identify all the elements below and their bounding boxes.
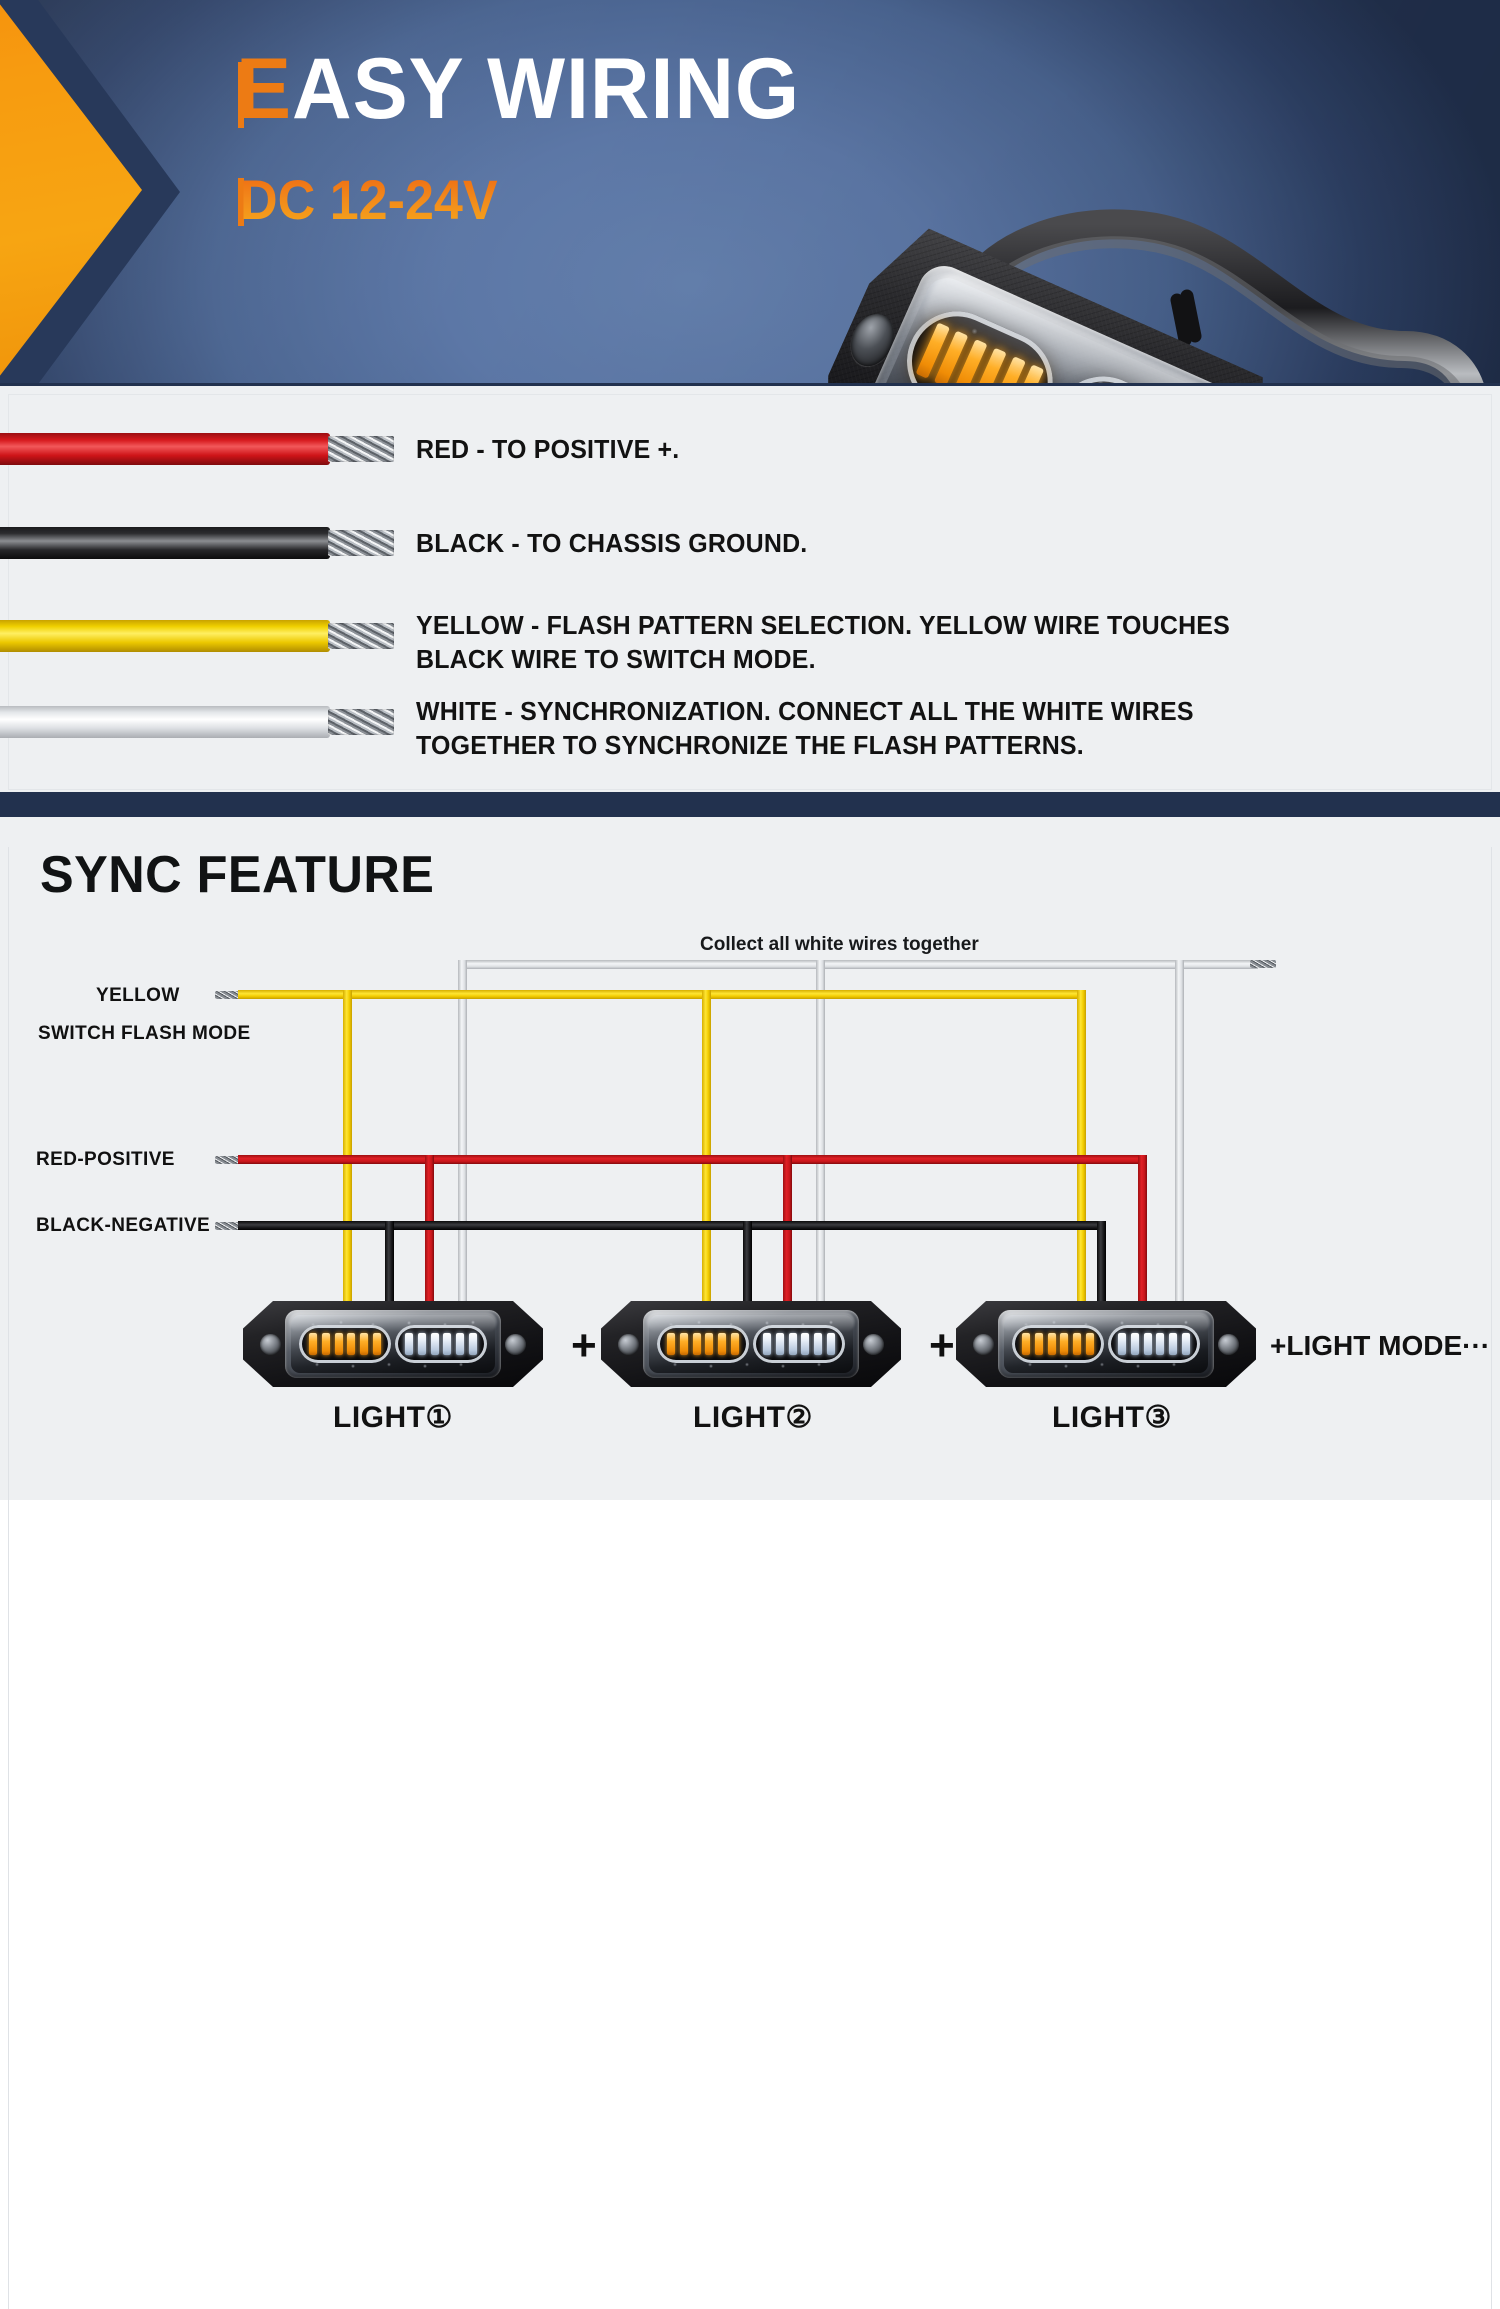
red-drop-light2	[783, 1155, 792, 1305]
white-led	[418, 1333, 426, 1355]
cable-white-strand-icon	[328, 709, 394, 735]
white-drop-light3	[1175, 960, 1184, 1305]
mount-hole-right-icon	[1218, 1334, 1239, 1355]
mount-hole-left-icon	[260, 1334, 281, 1355]
amber-led	[347, 1333, 355, 1355]
wire-legend-panel: RED - TO POSITIVE +. BLACK - TO CHASSIS …	[0, 383, 1500, 795]
black-drop-light3	[1097, 1221, 1106, 1305]
yellow-drop-light1	[343, 990, 352, 1305]
module-lens-glare	[289, 1312, 497, 1332]
wire-legend-text-yellow: YELLOW - FLASH PATTERN SELECTION. YELLOW…	[416, 608, 1307, 676]
white-led	[801, 1333, 809, 1355]
wire-legend-text-red: RED - TO POSITIVE +.	[416, 432, 1328, 466]
white-led	[456, 1333, 464, 1355]
amber-led	[373, 1333, 381, 1355]
light-module-1	[243, 1301, 543, 1387]
amber-led	[322, 1333, 330, 1355]
amber-led	[718, 1333, 726, 1355]
white-led	[443, 1333, 451, 1355]
diagram-label-yellow-sub: SWITCH FLASH MODE	[38, 1023, 251, 1045]
cable-yellow-icon	[0, 620, 330, 652]
white-drop-light1	[458, 960, 467, 1305]
light-module-3-label: LIGHT③	[1052, 1400, 1172, 1435]
white-drop-light2	[816, 960, 825, 1305]
diagram-label-black: BLACK-NEGATIVE	[36, 1215, 210, 1237]
yellow-drop-light2	[702, 990, 711, 1305]
page-title-rest: ASY WIRING	[292, 41, 800, 137]
diagram-label-red: RED-POSITIVE	[36, 1149, 175, 1171]
infographic-page: EASY WIRING DC 12-24V	[0, 0, 1500, 1500]
product-photo	[795, 196, 1500, 383]
light-module-1-label: LIGHT①	[333, 1400, 453, 1435]
white-led	[1131, 1333, 1139, 1355]
white-led	[1156, 1333, 1164, 1355]
white-led	[469, 1333, 477, 1355]
wire-legend-text-white: WHITE - SYNCHRONIZATION. CONNECT ALL THE…	[416, 694, 1318, 762]
sync-section-title: SYNC FEATURE	[40, 845, 434, 905]
page-title-highlight: E	[236, 41, 292, 137]
amber-led	[1086, 1333, 1094, 1355]
cable-yellow-strand-icon	[328, 623, 394, 649]
module-lens-glare	[1002, 1312, 1210, 1332]
mount-hole-right-icon	[863, 1334, 884, 1355]
amber-led	[667, 1333, 675, 1355]
light-module-3	[956, 1301, 1256, 1387]
amber-led	[309, 1333, 317, 1355]
yellow-drop-light3	[1077, 990, 1086, 1305]
cable-red-icon	[0, 433, 330, 465]
collect-white-wires-note: Collect all white wires together	[700, 934, 979, 956]
page-subtitle: DC 12-24V	[240, 172, 498, 228]
amber-led	[360, 1333, 368, 1355]
more-light-mode-label: +LIGHT MODE···	[1270, 1330, 1490, 1362]
plus-separator-1: +	[571, 1324, 597, 1368]
amber-led	[1060, 1333, 1068, 1355]
white-led	[827, 1333, 835, 1355]
page-title: EASY WIRING	[236, 46, 800, 132]
black-trunk-line	[238, 1221, 1106, 1230]
amber-led	[1035, 1333, 1043, 1355]
cable-red-strand-icon	[328, 436, 394, 462]
amber-led	[1073, 1333, 1081, 1355]
amber-led	[335, 1333, 343, 1355]
black-drop-light1	[385, 1221, 394, 1305]
mount-hole-left-icon	[618, 1334, 639, 1355]
cable-black-strand-icon	[328, 530, 394, 556]
light-module-2-label: LIGHT②	[693, 1400, 813, 1435]
red-trunk-line	[238, 1155, 1147, 1164]
white-led	[1169, 1333, 1177, 1355]
sync-panel-frame	[8, 847, 1492, 2309]
white-led	[1144, 1333, 1152, 1355]
white-led	[1182, 1333, 1190, 1355]
amber-led	[731, 1333, 739, 1355]
module-lens-glare	[647, 1312, 855, 1332]
white-led	[776, 1333, 784, 1355]
yellow-trunk-line	[238, 990, 1086, 999]
white-led	[431, 1333, 439, 1355]
amber-led	[705, 1333, 713, 1355]
header-banner: EASY WIRING DC 12-24V	[0, 0, 1500, 383]
cable-white-icon	[0, 706, 330, 738]
black-drop-light2	[743, 1221, 752, 1305]
wire-legend-text-black: BLACK - TO CHASSIS GROUND.	[416, 526, 1328, 560]
diagram-label-yellow: YELLOW	[96, 985, 180, 1007]
red-drop-light1	[425, 1155, 434, 1305]
white-led	[1118, 1333, 1126, 1355]
amber-led	[1048, 1333, 1056, 1355]
white-led	[763, 1333, 771, 1355]
amber-led	[693, 1333, 701, 1355]
red-drop-light3	[1138, 1155, 1147, 1305]
plus-separator-2: +	[929, 1324, 955, 1368]
white-trunk-tip-icon	[1250, 960, 1276, 968]
white-led	[789, 1333, 797, 1355]
white-trunk-line	[458, 960, 1258, 969]
white-led	[405, 1333, 413, 1355]
light-module-2	[601, 1301, 901, 1387]
mount-hole-right-icon	[505, 1334, 526, 1355]
amber-led	[680, 1333, 688, 1355]
cable-black-icon	[0, 527, 330, 559]
amber-led	[1022, 1333, 1030, 1355]
mount-hole-left-icon	[973, 1334, 994, 1355]
white-led	[814, 1333, 822, 1355]
